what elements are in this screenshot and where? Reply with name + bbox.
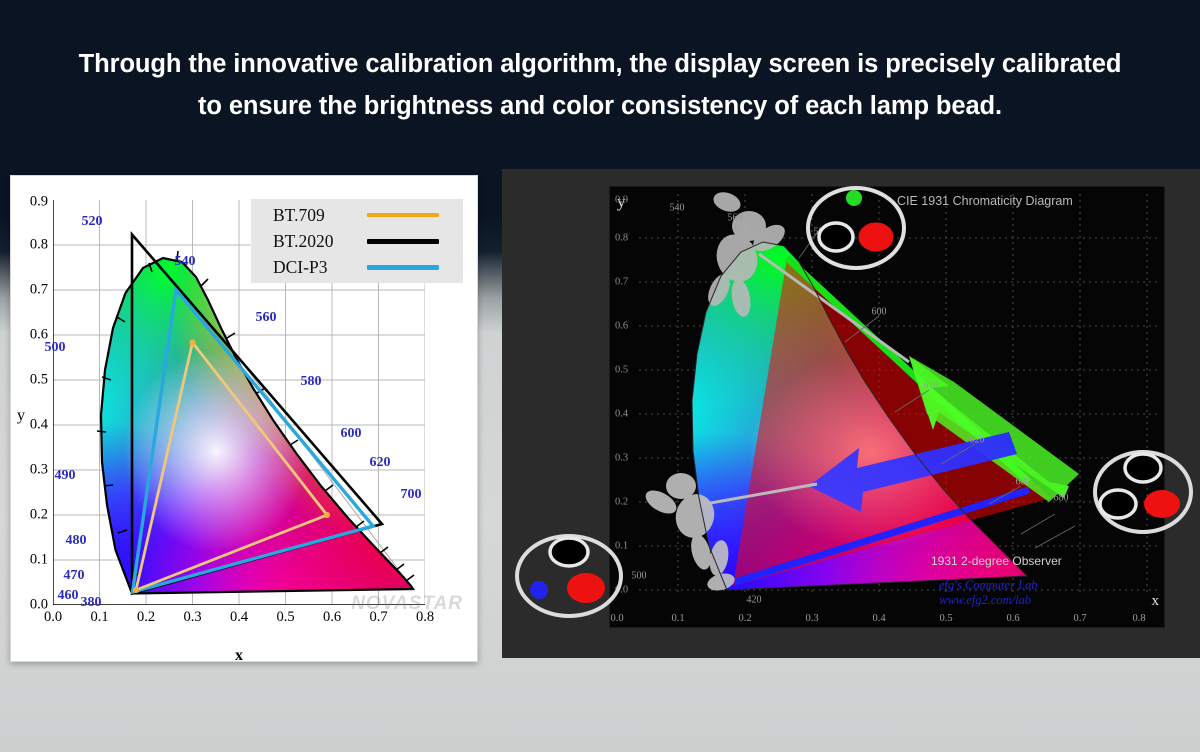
chart-legend: BT.709 BT.2020 DCI-P3	[251, 199, 463, 283]
y-tick-4: 0.4	[30, 417, 48, 434]
led-dot-blue	[530, 581, 548, 599]
dark-y-tick-7: 0.7	[615, 277, 628, 288]
wl-label-460: 460	[58, 588, 79, 604]
dark-y-tick-2: 0.2	[615, 497, 628, 508]
dark-credit: efg's Computer Lab www.efg2.com/lab	[939, 578, 1038, 608]
header-line-2: to ensure the brightness and color consi…	[198, 85, 1002, 127]
led-dot-red	[567, 573, 605, 603]
dark-wl-620: 680	[1016, 477, 1031, 488]
dark-y-tick-5: 0.5	[615, 365, 628, 376]
x-tick-4: 0.4	[230, 609, 248, 626]
x-axis-label: x	[235, 647, 243, 662]
dark-x-tick-2: 0.2	[738, 613, 751, 624]
x-tick-0: 0.0	[44, 609, 62, 626]
dark-x-tick-5: 0.5	[939, 613, 952, 624]
y-axis-label: y	[17, 407, 25, 425]
left-chart-panel: 0.0 0.1 0.2 0.3 0.4 0.5 0.6 0.7 0.8 0.9 …	[10, 175, 478, 662]
led-dot-black-top	[1125, 454, 1161, 482]
wl-label-560: 560	[256, 310, 277, 326]
wl-label-540: 540	[175, 254, 196, 270]
dark-y-tick-9: 0.9	[615, 195, 628, 206]
led-dot-black	[819, 223, 853, 251]
led-dot-black	[550, 538, 588, 566]
wl-label-580: 580	[301, 374, 322, 390]
dark-wl-540: 560	[728, 213, 743, 224]
dark-observer-label: 1931 2-degree Observer	[931, 554, 1062, 568]
header-banner: Through the innovative calibration algor…	[0, 0, 1200, 170]
legend-swatch-bt2020	[367, 239, 439, 244]
wl-label-470: 470	[64, 568, 85, 584]
y-tick-8: 0.8	[30, 237, 48, 254]
dark-chart-title: CIE 1931 Chromaticity Diagram	[897, 194, 1073, 208]
dark-wl-680: 680	[1054, 493, 1069, 504]
bt709-blue-primary	[133, 587, 139, 593]
legend-label-dcip3: DCI-P3	[273, 257, 367, 278]
dark-wl-610: 620	[970, 435, 985, 446]
legend-swatch-bt709	[367, 213, 439, 217]
x-tick-6: 0.6	[323, 609, 341, 626]
led-badge-bottom-right[interactable]	[1090, 446, 1196, 538]
legend-label-bt709: BT.709	[273, 205, 367, 226]
legend-swatch-dcip3	[367, 265, 439, 270]
dark-wl-600: 610	[924, 381, 939, 392]
wl-label-500: 500	[45, 340, 66, 356]
wl-label-480: 480	[66, 533, 87, 549]
dark-x-tick-1: 0.1	[671, 613, 684, 624]
wl-label-490: 490	[55, 468, 76, 484]
right-chart-panel: CIE 1931 Chromaticity Diagram 1931 2-deg…	[502, 169, 1200, 658]
x-tick-2: 0.2	[137, 609, 155, 626]
dark-y-tick-8: 0.8	[615, 233, 628, 244]
y-tick-3: 0.3	[30, 462, 48, 479]
wl-label-700: 700	[401, 487, 422, 503]
dark-wl-580: 600	[872, 307, 887, 318]
dark-credit-line1: efg's Computer Lab	[939, 578, 1038, 593]
dark-wl-420: 420	[747, 595, 762, 606]
dark-y-tick-3: 0.3	[615, 453, 628, 464]
y-tick-7: 0.7	[30, 282, 48, 299]
bt709-green-primary	[189, 339, 195, 345]
y-tick-9: 0.9	[30, 194, 48, 211]
dark-x-tick-3: 0.3	[805, 613, 818, 624]
dark-wl-520: 540	[670, 203, 685, 214]
header-line-1: Through the innovative calibration algor…	[79, 43, 1122, 85]
dark-x-tick-7: 0.7	[1073, 613, 1086, 624]
legend-item-bt2020[interactable]: BT.2020	[273, 228, 463, 254]
dark-wl-500: 500	[632, 571, 647, 582]
led-dot-green	[846, 190, 862, 206]
dark-x-axis-label: x	[1152, 593, 1160, 610]
dark-x-tick-4: 0.4	[872, 613, 885, 624]
novastar-watermark: NOVASTAR	[351, 593, 463, 615]
wl-label-600: 600	[341, 426, 362, 442]
dark-credit-line2: www.efg2.com/lab	[939, 593, 1038, 608]
x-tick-1: 0.1	[90, 609, 108, 626]
x-tick-3: 0.3	[183, 609, 201, 626]
legend-item-bt709[interactable]: BT.709	[273, 202, 463, 228]
led-badge-top[interactable]	[804, 185, 908, 271]
led-badge-bottom-left[interactable]	[512, 530, 626, 622]
legend-item-dcip3[interactable]: DCI-P3	[273, 254, 463, 280]
led-dot-red	[859, 223, 893, 251]
dark-x-tick-6: 0.6	[1006, 613, 1019, 624]
y-tick-5: 0.5	[30, 372, 48, 389]
y-tick-2: 0.2	[30, 507, 48, 524]
x-tick-5: 0.5	[276, 609, 294, 626]
wl-label-520: 520	[82, 214, 103, 230]
y-tick-1: 0.1	[30, 552, 48, 569]
dark-y-tick-6: 0.6	[615, 321, 628, 332]
dark-y-tick-4: 0.4	[615, 409, 628, 420]
dark-x-tick-8: 0.8	[1132, 613, 1145, 624]
wl-label-620: 620	[370, 455, 391, 471]
legend-label-bt2020: BT.2020	[273, 231, 367, 252]
led-dot-red	[1144, 490, 1180, 518]
bt709-red-primary	[324, 512, 330, 518]
led-dot-black-left	[1100, 490, 1136, 518]
wl-label-380: 380	[81, 595, 102, 611]
